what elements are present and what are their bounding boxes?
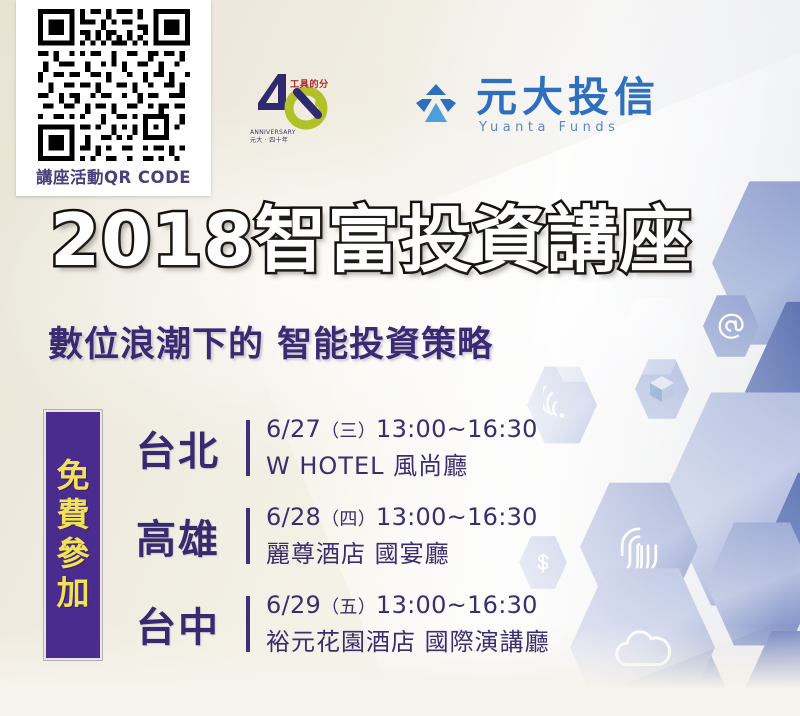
session-info: 6/28（四）13:00~16:30 麗尊酒店 國宴廳 — [266, 503, 538, 569]
session-date: 6/27 — [266, 415, 321, 443]
yuanta-logo: 元大投信 Yuanta Funds — [410, 77, 660, 135]
session-venue: W HOTEL 風尚廳 — [266, 446, 538, 481]
yuanta-logo-text: 元大投信 Yuanta Funds — [476, 77, 660, 135]
free-admission-badge: 免 費 參 加 — [44, 410, 102, 660]
free-badge-char: 參 — [57, 536, 90, 573]
session-venue: 麗尊酒店 國宴廳 — [266, 534, 538, 569]
session-weekday: （四） — [321, 509, 376, 530]
session-info: 6/29（五）13:00~16:30 裕元花園酒店 國際演講廳 — [266, 591, 550, 657]
anniversary-40-logo: 工具的分 ANNIVERSARY 元大 ‧ 四十年 — [248, 70, 344, 142]
session-weekday: （三） — [321, 421, 376, 442]
session-date: 6/29 — [266, 591, 321, 619]
session-time: 13:00~16:30 — [376, 415, 538, 443]
session-datetime: 6/27（三）13:00~16:30 — [266, 415, 538, 443]
yuanta-name-cn: 元大投信 — [476, 77, 660, 118]
free-badge-char: 加 — [57, 575, 90, 612]
page-subtitle: 數位浪潮下的 智能投資策略 — [48, 316, 493, 367]
session-divider — [246, 420, 250, 476]
session-list: 台北 6/27（三）13:00~16:30 W HOTEL 風尚廳 高雄 6/2… — [136, 404, 576, 668]
session-city: 台北 — [136, 419, 240, 477]
session-weekday: （五） — [321, 597, 376, 618]
session-time: 13:00~16:30 — [376, 503, 538, 531]
qr-code-icon — [38, 9, 190, 161]
session-venue: 裕元花園酒店 國際演講廳 — [266, 622, 550, 657]
page-title: 2018智富投資講座 — [50, 204, 692, 276]
session-date: 6/28 — [266, 503, 321, 531]
yuanta-triangle-logo-icon — [410, 81, 462, 131]
yuanta-name-en: Yuanta Funds — [479, 120, 660, 135]
session-divider — [246, 596, 250, 652]
anniversary-sub-text: ANNIVERSARY 元大 ‧ 四十年 — [250, 129, 296, 144]
cube-icon — [645, 372, 679, 406]
session-divider — [246, 508, 250, 564]
qr-code-caption: 講座活動QR CODE — [36, 164, 191, 188]
session-datetime: 6/28（四）13:00~16:30 — [266, 503, 538, 531]
free-badge-char: 免 — [57, 458, 90, 495]
session-item: 台中 6/29（五）13:00~16:30 裕元花園酒店 國際演講廳 — [136, 580, 576, 668]
session-item: 台北 6/27（三）13:00~16:30 W HOTEL 風尚廳 — [136, 404, 576, 492]
logo-row: 工具的分 ANNIVERSARY 元大 ‧ 四十年 元大投信 Yuanta Fu… — [248, 70, 660, 142]
at-sign-icon — [716, 311, 746, 341]
session-datetime: 6/29（五）13:00~16:30 — [266, 591, 550, 619]
free-badge-char: 費 — [57, 497, 90, 534]
session-info: 6/27（三）13:00~16:30 W HOTEL 風尚廳 — [266, 415, 538, 481]
session-item: 高雄 6/28（四）13:00~16:30 麗尊酒店 國宴廳 — [136, 492, 576, 580]
promotional-poster: 講座活動QR CODE 工具的分 ANNIVERSARY 元大 ‧ 四十年 — [0, 0, 800, 716]
session-city: 台中 — [136, 595, 240, 653]
session-city: 高雄 — [136, 507, 240, 565]
session-time: 13:00~16:30 — [376, 591, 538, 619]
qr-code-card[interactable]: 講座活動QR CODE — [16, 0, 211, 196]
anniversary-top-text: 工具的分 — [290, 76, 329, 90]
